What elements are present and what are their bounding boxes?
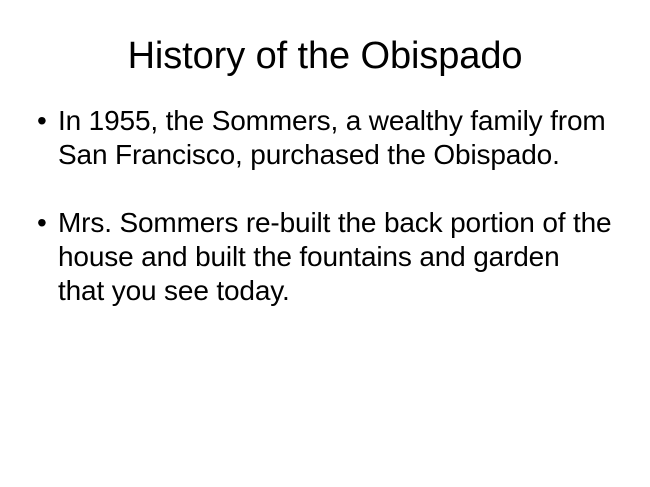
list-item: • In 1955, the Sommers, a wealthy family…: [34, 104, 612, 172]
bullet-point-icon: •: [37, 104, 51, 138]
list-item-text: Mrs. Sommers re-built the back portion o…: [58, 206, 612, 308]
presentation-slide: History of the Obispado • In 1955, the S…: [0, 0, 650, 487]
paragraph-spacer: [34, 172, 612, 206]
bullet-list: • In 1955, the Sommers, a wealthy family…: [34, 104, 612, 308]
page-title: History of the Obispado: [0, 33, 650, 79]
list-item: • Mrs. Sommers re-built the back portion…: [34, 206, 612, 308]
bullet-point-icon: •: [37, 206, 51, 240]
list-item-text: In 1955, the Sommers, a wealthy family f…: [58, 104, 612, 172]
